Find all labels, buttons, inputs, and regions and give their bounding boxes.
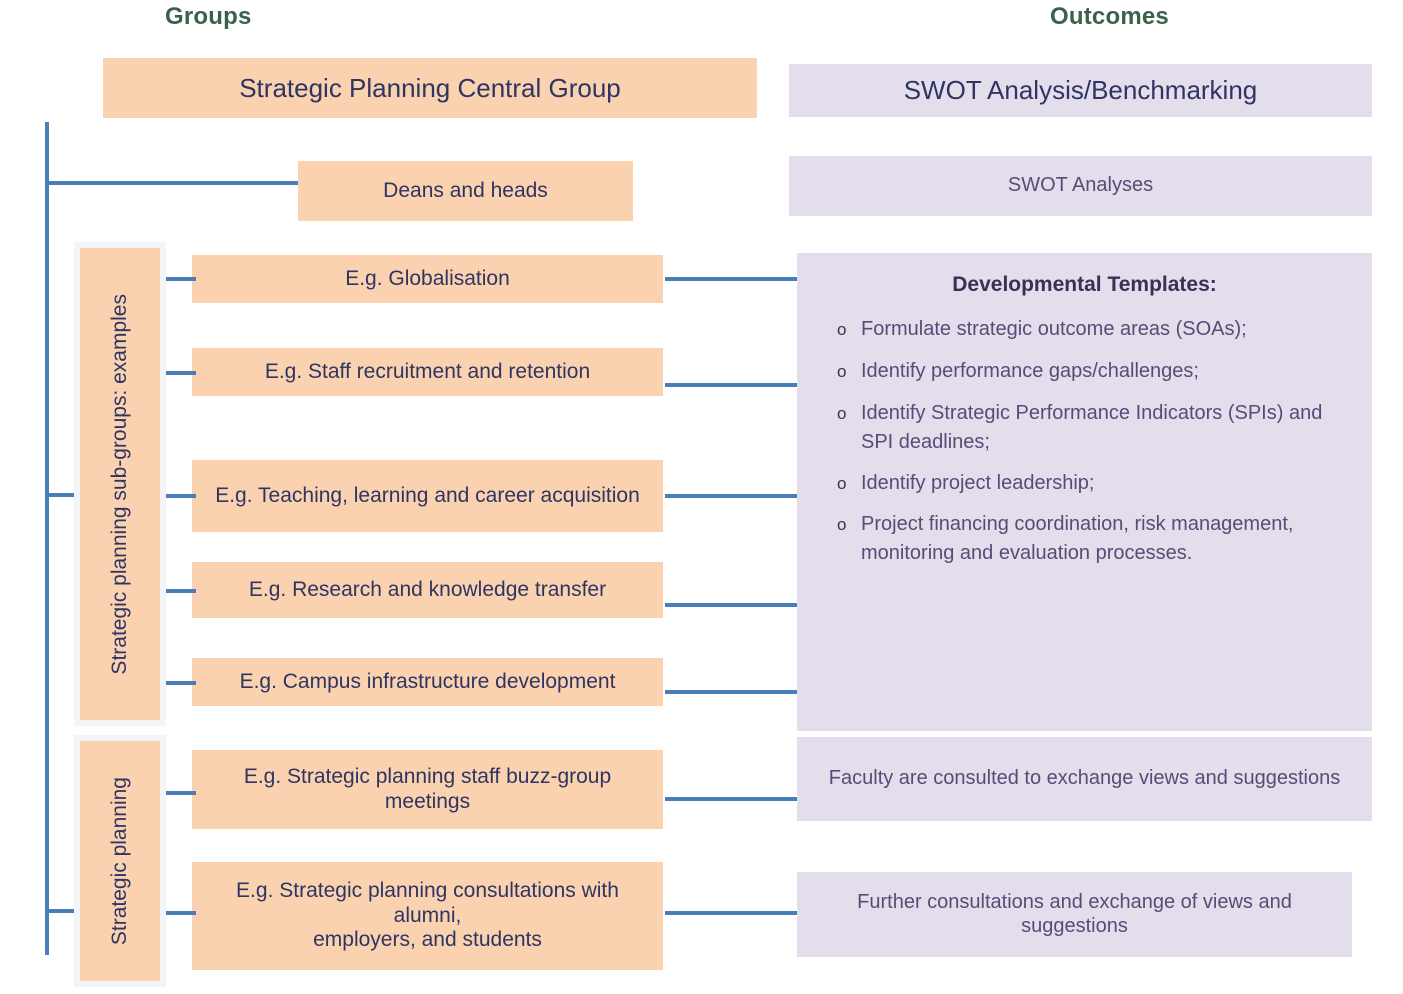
list-item: o Identify performance gaps/challenges; xyxy=(815,357,1354,387)
list-bullet-icon: o xyxy=(815,510,861,540)
box-swot-analysis-benchmarking[interactable]: SWOT Analysis/Benchmarking xyxy=(789,64,1372,117)
list-bullet-icon: o xyxy=(815,357,861,387)
connector-campus-infrastructure xyxy=(665,690,797,694)
stub-subgroup-2 xyxy=(166,371,196,375)
column-header-groups: Groups xyxy=(165,3,252,31)
box-further-consultations[interactable]: Further consultations and exchange of vi… xyxy=(797,872,1352,957)
trunk-branch-deans xyxy=(45,181,300,185)
column-header-outcomes: Outcomes xyxy=(1050,3,1169,31)
box-subgroup-globalisation[interactable]: E.g. Globalisation xyxy=(192,255,663,303)
list-item-text: Project financing coordination, risk man… xyxy=(861,510,1354,568)
list-bullet-icon: o xyxy=(815,469,861,499)
list-item-text: Identify performance gaps/challenges; xyxy=(861,357,1354,386)
diagram-canvas: Groups Outcomes Strategic Planning Centr… xyxy=(0,0,1403,994)
stub-planning-1 xyxy=(166,791,196,795)
list-item: o Identify Strategic Performance Indicat… xyxy=(815,399,1354,457)
box-subgroup-research-knowledge[interactable]: E.g. Research and knowledge transfer xyxy=(192,562,663,618)
stub-planning-2 xyxy=(166,911,196,915)
box-faculty-consulted[interactable]: Faculty are consulted to exchange views … xyxy=(797,737,1372,821)
box-subgroup-teaching-learning[interactable]: E.g. Teaching, learning and career acqui… xyxy=(192,460,663,532)
list-item-text: Formulate strategic outcome areas (SOAs)… xyxy=(861,315,1354,344)
list-item-text: Identify project leadership; xyxy=(861,469,1354,498)
box-deans-and-heads[interactable]: Deans and heads xyxy=(298,161,633,221)
list-item: o Formulate strategic outcome areas (SOA… xyxy=(815,315,1354,345)
connector-staff-recruitment xyxy=(665,383,797,387)
list-bullet-icon: o xyxy=(815,399,861,429)
stub-subgroup-4 xyxy=(166,589,196,593)
rotated-box-planning[interactable]: Strategic planning xyxy=(80,741,160,981)
box-planning-consultations[interactable]: E.g. Strategic planning consultations wi… xyxy=(192,862,663,970)
list-item-text: Identify Strategic Performance Indicator… xyxy=(861,399,1354,457)
connector-buzz-group xyxy=(665,797,797,801)
panel-developmental-templates[interactable]: Developmental Templates: o Formulate str… xyxy=(797,253,1372,731)
box-subgroup-staff-recruitment[interactable]: E.g. Staff recruitment and retention xyxy=(192,348,663,396)
box-subgroup-campus-infrastructure[interactable]: E.g. Campus infrastructure development xyxy=(192,658,663,706)
developmental-templates-title: Developmental Templates: xyxy=(815,273,1354,297)
connector-consultations xyxy=(665,911,797,915)
list-bullet-icon: o xyxy=(815,315,861,345)
connector-research-knowledge xyxy=(665,603,797,607)
developmental-templates-list: o Formulate strategic outcome areas (SOA… xyxy=(815,315,1354,568)
box-strategic-planning-central-group[interactable]: Strategic Planning Central Group xyxy=(103,58,757,118)
stub-subgroup-3 xyxy=(166,494,196,498)
list-item: o Project financing coordination, risk m… xyxy=(815,510,1354,568)
rotated-label-subgroups: Strategic planning sub-groups: examples xyxy=(108,294,132,675)
stub-subgroup-1 xyxy=(166,277,196,281)
rotated-label-planning: Strategic planning xyxy=(108,777,132,945)
connector-teaching-learning xyxy=(665,494,797,498)
stub-subgroup-5 xyxy=(166,681,196,685)
box-swot-analyses[interactable]: SWOT Analyses xyxy=(789,156,1372,216)
box-planning-buzz-group[interactable]: E.g. Strategic planning staff buzz-group… xyxy=(192,750,663,829)
list-item: o Identify project leadership; xyxy=(815,469,1354,499)
connector-globalisation xyxy=(665,277,797,281)
rotated-box-subgroups[interactable]: Strategic planning sub-groups: examples xyxy=(80,248,160,720)
trunk-vertical-line xyxy=(45,122,49,955)
